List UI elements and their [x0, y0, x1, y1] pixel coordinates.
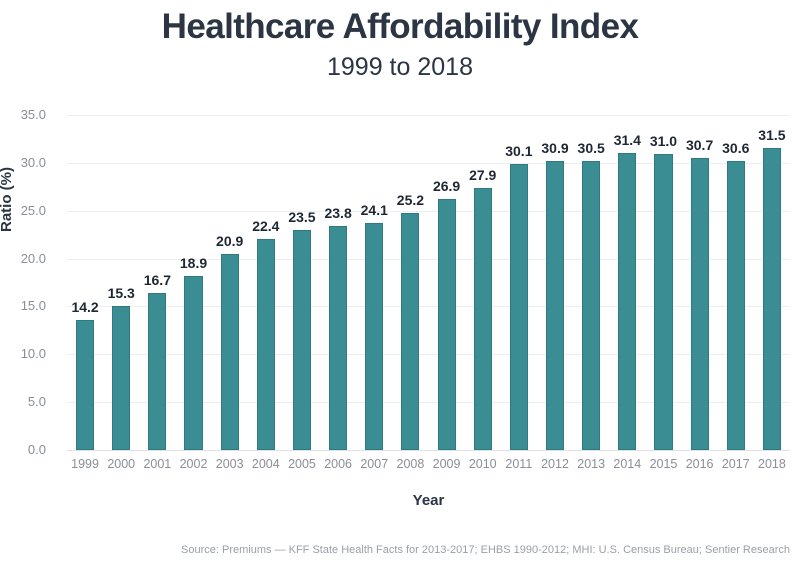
bar[interactable]: [184, 276, 202, 450]
bar-group[interactable]: 15.32000: [112, 115, 130, 450]
bar-group[interactable]: 23.82006: [329, 115, 347, 450]
bar-group[interactable]: 16.72001: [148, 115, 166, 450]
bar-value-label: 16.7: [135, 273, 179, 287]
bar[interactable]: [365, 223, 383, 450]
x-axis-title: Year: [67, 492, 790, 509]
chart-subtitle: 1999 to 2018: [0, 52, 800, 82]
bar-value-label: 20.9: [208, 234, 252, 248]
bar-group[interactable]: 30.92012: [546, 115, 564, 450]
bar-group[interactable]: 25.22008: [401, 115, 419, 450]
bar-value-label: 31.5: [750, 128, 794, 142]
bar-group[interactable]: 30.62017: [727, 115, 745, 450]
y-axis-tick-label: 0.0: [0, 443, 46, 456]
bar[interactable]: [582, 161, 600, 450]
y-axis-tick-label: 25.0: [0, 204, 46, 217]
y-axis-tick-label: 15.0: [0, 299, 46, 312]
bars-layer: 14.2199915.3200016.7200118.9200220.92003…: [67, 115, 790, 450]
bar[interactable]: [618, 153, 636, 450]
bar-value-label: 25.2: [388, 193, 432, 207]
source-note: Source: Premiums — KFF State Health Fact…: [0, 543, 790, 557]
y-axis-title: Ratio (%): [0, 167, 15, 232]
bar-group[interactable]: 23.52005: [293, 115, 311, 450]
bar-group[interactable]: 27.92010: [474, 115, 492, 450]
bar[interactable]: [438, 199, 456, 450]
bar-group[interactable]: 24.12007: [365, 115, 383, 450]
bar-group[interactable]: 30.52013: [582, 115, 600, 450]
bar-group[interactable]: 20.92003: [221, 115, 239, 450]
bar-group[interactable]: 18.92002: [184, 115, 202, 450]
bar-value-label: 27.9: [461, 168, 505, 182]
bar[interactable]: [691, 158, 709, 450]
bar-group[interactable]: 14.21999: [76, 115, 94, 450]
bar-group[interactable]: 22.42004: [257, 115, 275, 450]
bar-value-label: 30.6: [714, 141, 758, 155]
bar-value-label: 15.3: [99, 286, 143, 300]
bar-group[interactable]: 31.42014: [618, 115, 636, 450]
gridline: [67, 450, 790, 451]
bar[interactable]: [148, 293, 166, 450]
bar-group[interactable]: 31.02015: [654, 115, 672, 450]
bar[interactable]: [546, 161, 564, 450]
bar[interactable]: [293, 230, 311, 450]
bar[interactable]: [76, 320, 94, 450]
bar-value-label: 18.9: [171, 256, 215, 270]
y-axis-tick-label: 5.0: [0, 395, 46, 408]
bar-group[interactable]: 26.92009: [438, 115, 456, 450]
page-title: Healthcare Affordability Index: [0, 6, 800, 48]
bar[interactable]: [329, 226, 347, 450]
bar[interactable]: [221, 254, 239, 450]
bar[interactable]: [763, 148, 781, 450]
bar[interactable]: [474, 188, 492, 450]
bar-value-label: 14.2: [63, 300, 107, 314]
y-axis-tick-label: 20.0: [0, 252, 46, 265]
bar[interactable]: [654, 154, 672, 450]
bar-group[interactable]: 31.52018: [763, 115, 781, 450]
bar[interactable]: [510, 164, 528, 450]
y-axis-tick-label: 30.0: [0, 156, 46, 169]
x-axis-tick-label: 2018: [751, 458, 793, 471]
bar-group[interactable]: 30.72016: [691, 115, 709, 450]
y-axis-tick-label: 35.0: [0, 108, 46, 121]
bar-group[interactable]: 30.12011: [510, 115, 528, 450]
bar[interactable]: [257, 239, 275, 450]
bar[interactable]: [112, 306, 130, 450]
bar[interactable]: [401, 213, 419, 450]
bar[interactable]: [727, 161, 745, 450]
y-axis-tick-label: 10.0: [0, 347, 46, 360]
